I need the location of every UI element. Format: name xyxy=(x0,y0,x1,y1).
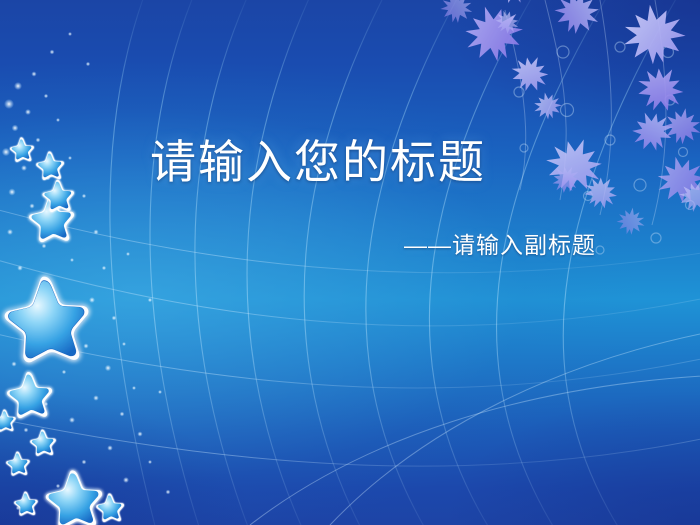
background-corner-shading xyxy=(0,0,700,525)
slide-subtitle[interactable]: ——请输入副标题 xyxy=(404,233,596,258)
slide-title[interactable]: 请输入您的标题 xyxy=(150,138,486,188)
presentation-title-slide: 请输入您的标题 ——请输入副标题 xyxy=(0,0,700,525)
